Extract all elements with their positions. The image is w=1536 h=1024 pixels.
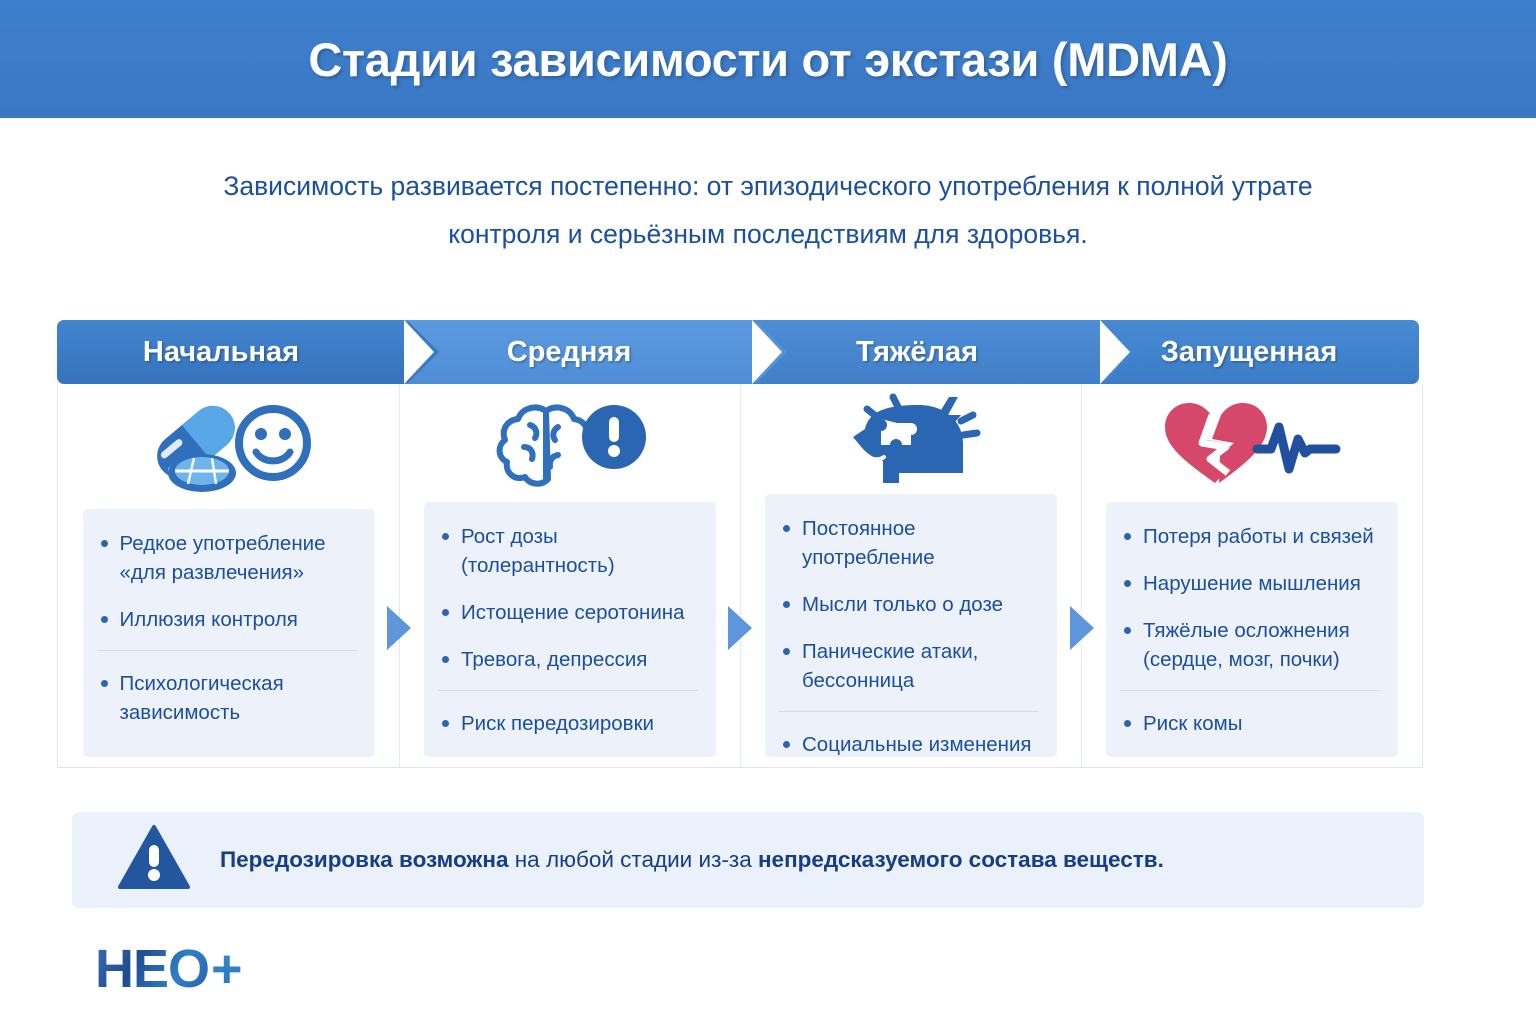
brain-alert-icon <box>400 384 740 502</box>
pills-smiley-icon <box>58 384 399 509</box>
stage-header-label: Запущенная <box>1101 336 1419 369</box>
stage-header-label: Средняя <box>405 336 755 369</box>
stage-header-nachalnaya[interactable]: Начальная <box>57 320 407 384</box>
bullet-item: Нарушение мышления <box>1120 569 1380 598</box>
stage-bullets-card: Потеря работы и связей Нарушение мышлени… <box>1106 502 1398 757</box>
stage-headers-row: Начальная Средняя Тяжёлая Запущенная <box>57 320 1423 384</box>
warning-normal-middle: на любой стадии из-за <box>509 847 758 872</box>
page-header-band: Стадии зависимости от экстази (MDMA) <box>0 0 1536 118</box>
stage-header-zapushchennaya[interactable]: Запущенная <box>1101 320 1419 384</box>
bullet-item: Социальные изменения <box>779 730 1039 759</box>
bullet-item: Рост дозы (толерантность) <box>438 522 698 580</box>
bullet-list: Рост дозы (толерантность) Истощение серо… <box>438 522 698 738</box>
page-title: Стадии зависимости от экстази (MDMA) <box>308 32 1227 87</box>
neo-plus-logo[interactable]: НЕО + <box>95 938 243 1000</box>
head-puzzle-lightning-icon <box>741 384 1081 494</box>
stages-section: Начальная Средняя Тяжёлая Запущенная <box>57 320 1423 770</box>
bullet-item: Редкое употребление «для развлечения» <box>97 529 357 587</box>
chevron-notch <box>404 320 434 384</box>
stage-connector-arrow <box>1070 606 1094 650</box>
bullet-item: Истощение серотонина <box>438 598 698 627</box>
bullet-list: Редкое употребление «для развлечения» Ил… <box>97 529 357 727</box>
bullet-item: Психологическая зависимость <box>97 669 357 727</box>
warning-banner: Передозировка возможна на любой стадии и… <box>72 812 1424 908</box>
warning-triangle-icon <box>118 825 190 896</box>
stage-column-nachalnaya: Редкое употребление «для развлечения» Ил… <box>58 384 399 767</box>
warning-text: Передозировка возможна на любой стадии и… <box>220 847 1164 873</box>
stage-connector-arrow <box>387 606 411 650</box>
bullet-item: Риск комы <box>1120 709 1380 738</box>
stage-header-label: Тяжёлая <box>753 336 1103 369</box>
stage-column-srednyaya: Рост дозы (толерантность) Истощение серо… <box>399 384 740 767</box>
bullet-item: Риск передозировки <box>438 709 698 738</box>
bullet-item: Панические атаки, бессонница <box>779 637 1039 712</box>
bullet-list: Постоянное употребление Мысли только о д… <box>779 514 1039 759</box>
bullet-item: Тревога, депрессия <box>438 645 698 691</box>
logo-plus-icon: + <box>211 938 243 1000</box>
bullet-list: Потеря работы и связей Нарушение мышлени… <box>1120 522 1380 738</box>
stage-header-label: Начальная <box>57 336 407 369</box>
stages-panel: Редкое употребление «для развлечения» Ил… <box>57 384 1423 768</box>
stage-header-tyazhelaya[interactable]: Тяжёлая <box>753 320 1103 384</box>
broken-heart-pulse-icon <box>1082 384 1422 502</box>
stage-bullets-card: Редкое употребление «для развлечения» Ил… <box>83 509 375 757</box>
subtitle-line-2: контроля и серьёзным последствиям для зд… <box>0 210 1536 258</box>
stage-bullets-card: Рост дозы (толерантность) Истощение серо… <box>424 502 716 757</box>
bullet-item: Иллюзия контроля <box>97 605 357 651</box>
subtitle-line-1: Зависимость развивается постепенно: от э… <box>0 162 1536 210</box>
stage-header-srednyaya[interactable]: Средняя <box>405 320 755 384</box>
stage-column-zapushchennaya: Потеря работы и связей Нарушение мышлени… <box>1081 384 1422 767</box>
subtitle-block: Зависимость развивается постепенно: от э… <box>0 118 1536 258</box>
bullet-item: Потеря работы и связей <box>1120 522 1380 551</box>
chevron-notch <box>752 320 782 384</box>
stage-bullets-card: Постоянное употребление Мысли только о д… <box>765 494 1057 757</box>
chevron-notch <box>1100 320 1130 384</box>
stage-connector-arrow <box>728 606 752 650</box>
stage-column-tyazhelaya: Постоянное употребление Мысли только о д… <box>740 384 1081 767</box>
logo-wordmark: НЕО <box>95 938 209 1000</box>
bullet-item: Тяжёлые осложнения (сердце, мозг, почки) <box>1120 616 1380 691</box>
bullet-item: Мысли только о дозе <box>779 590 1039 619</box>
warning-bold-start: Передозировка возможна <box>220 847 509 872</box>
bullet-item: Постоянное употребление <box>779 514 1039 572</box>
warning-bold-end: непредсказуемого состава веществ. <box>758 847 1164 872</box>
